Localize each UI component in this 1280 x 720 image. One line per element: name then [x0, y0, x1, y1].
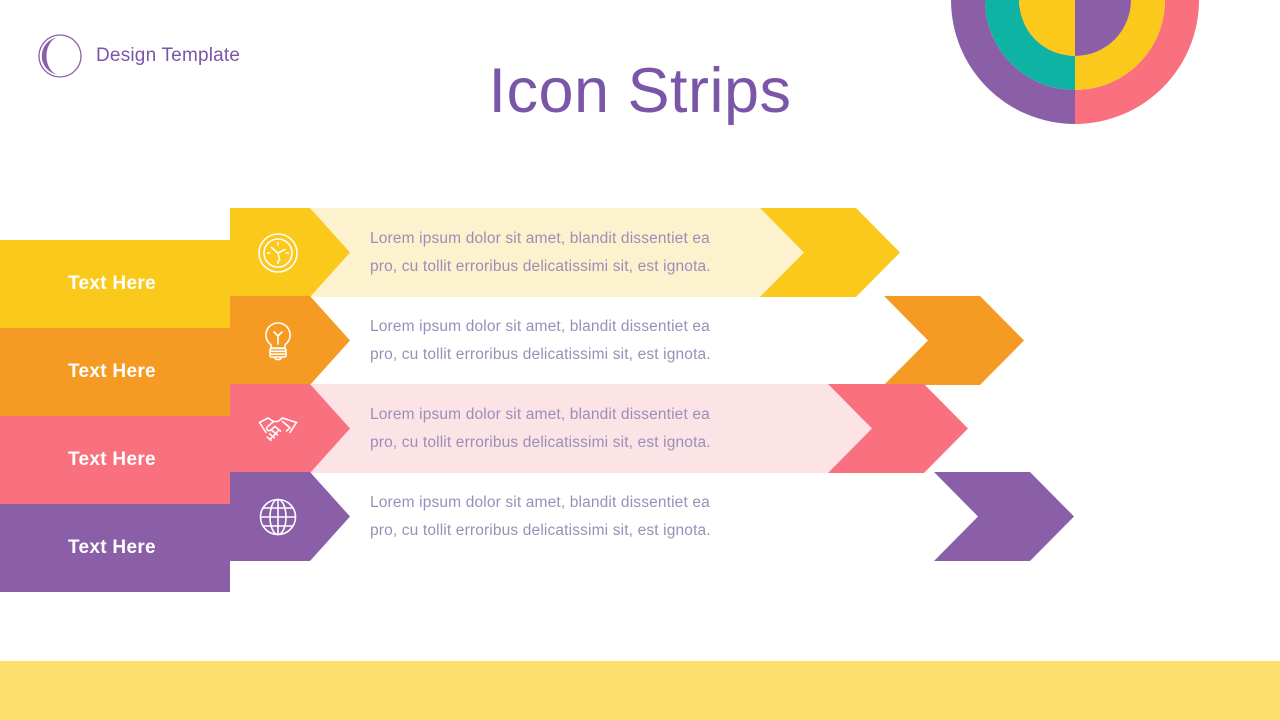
- clock-icon: [256, 231, 300, 275]
- icon-strip-row[interactable]: Lorem ipsum dolor sit amet, blandit diss…: [0, 208, 1280, 297]
- lightbulb-icon: [256, 319, 300, 363]
- strip-description-line: pro, cu tollit erroribus delicatissimi s…: [370, 517, 711, 545]
- bottom-accent-band: [0, 661, 1280, 720]
- strip-description-line: Lorem ipsum dolor sit amet, blandit diss…: [370, 401, 711, 429]
- strip-head-chevron[interactable]: [230, 296, 350, 385]
- globe-icon: [256, 495, 300, 539]
- strip-description: Lorem ipsum dolor sit amet, blandit diss…: [370, 296, 711, 385]
- strip-description: Lorem ipsum dolor sit amet, blandit diss…: [370, 384, 711, 473]
- icon-strip-row[interactable]: Lorem ipsum dolor sit amet, blandit diss…: [0, 384, 1280, 473]
- strip-description-line: pro, cu tollit erroribus delicatissimi s…: [370, 253, 711, 281]
- icon-strip-row[interactable]: Lorem ipsum dolor sit amet, blandit diss…: [0, 296, 1280, 385]
- strip-description-line: pro, cu tollit erroribus delicatissimi s…: [370, 429, 711, 457]
- icon-strip-row[interactable]: Lorem ipsum dolor sit amet, blandit diss…: [0, 472, 1280, 561]
- strip-tail-chevron: [934, 472, 1074, 561]
- strip-tail-chevron: [884, 296, 1024, 385]
- strip-description-line: Lorem ipsum dolor sit amet, blandit diss…: [370, 489, 711, 517]
- strip-description-line: Lorem ipsum dolor sit amet, blandit diss…: [370, 313, 711, 341]
- strip-description: Lorem ipsum dolor sit amet, blandit diss…: [370, 472, 711, 561]
- strip-head-chevron[interactable]: [230, 472, 350, 561]
- icon-strip-list: Lorem ipsum dolor sit amet, blandit diss…: [0, 0, 1280, 720]
- handshake-icon: [256, 407, 300, 451]
- strip-description-line: Lorem ipsum dolor sit amet, blandit diss…: [370, 225, 711, 253]
- strip-description: Lorem ipsum dolor sit amet, blandit diss…: [370, 208, 711, 297]
- slide-canvas: Design Template Icon Strips Text HereTex…: [0, 0, 1280, 720]
- strip-description-line: pro, cu tollit erroribus delicatissimi s…: [370, 341, 711, 369]
